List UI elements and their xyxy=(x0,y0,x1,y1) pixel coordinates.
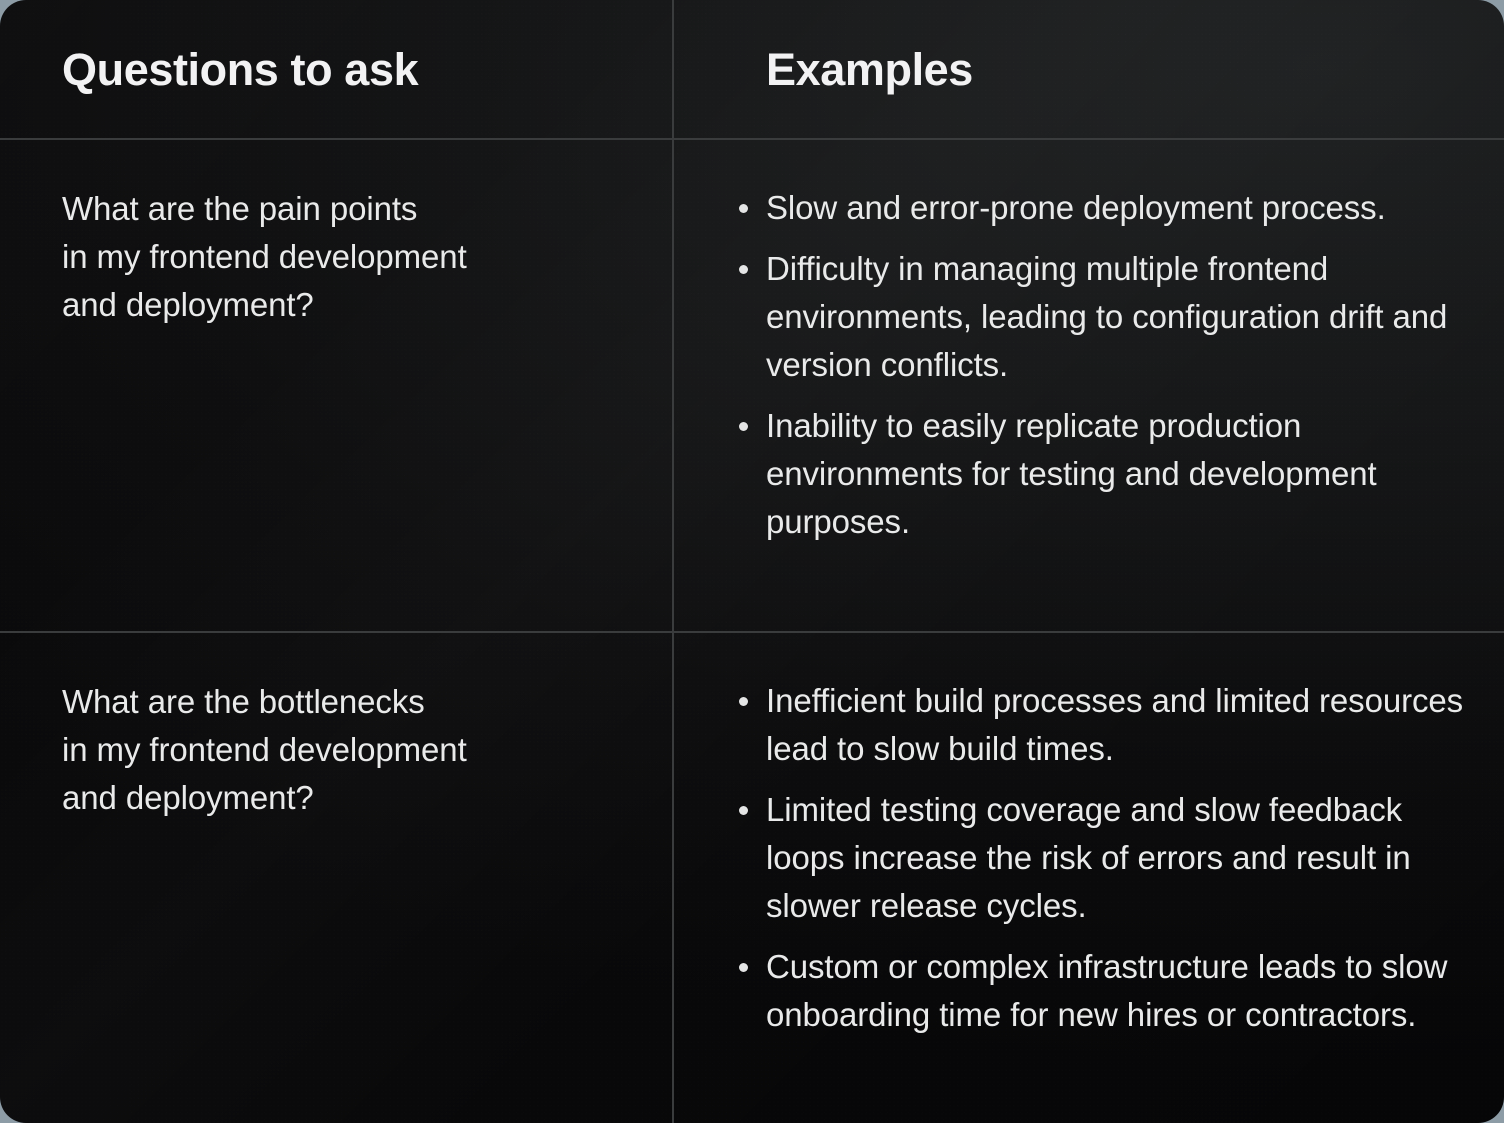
list-item: Inefficient build processes and limited … xyxy=(673,677,1464,773)
bullet-icon xyxy=(739,265,748,274)
question-cell: What are the bottlenecks in my frontend … xyxy=(0,633,673,1123)
list-item: Custom or complex infrastructure leads t… xyxy=(673,943,1464,1039)
column-header-examples: Examples xyxy=(673,47,973,92)
list-item: Slow and error-prone deployment process. xyxy=(673,184,1464,232)
row-divider xyxy=(0,631,1504,633)
list-item-text: Difficulty in managing multiple frontend… xyxy=(766,250,1447,383)
examples-list: Slow and error-prone deployment process.… xyxy=(673,140,1504,546)
column-divider-row-1 xyxy=(672,140,674,631)
bullet-icon xyxy=(739,204,748,213)
list-item-text: Custom or complex infrastructure leads t… xyxy=(766,948,1447,1033)
table-row: What are the bottlenecks in my frontend … xyxy=(0,633,1504,1123)
list-item-text: Inefficient build processes and limited … xyxy=(766,682,1463,767)
header-cell-questions: Questions to ask xyxy=(0,0,673,138)
questions-examples-table: Questions to ask Examples What are the p… xyxy=(0,0,1504,1123)
list-item-text: Slow and error-prone deployment process. xyxy=(766,189,1386,226)
bullet-icon xyxy=(739,697,748,706)
question-text: What are the bottlenecks in my frontend … xyxy=(0,633,673,822)
bullet-icon xyxy=(739,963,748,972)
list-item: Inability to easily replicate production… xyxy=(673,402,1464,546)
list-item-text: Inability to easily replicate production… xyxy=(766,407,1377,540)
examples-cell: Inefficient build processes and limited … xyxy=(673,633,1504,1123)
column-header-questions: Questions to ask xyxy=(0,47,418,92)
list-item-text: Limited testing coverage and slow feedba… xyxy=(766,791,1411,924)
bullet-icon xyxy=(739,806,748,815)
header-cell-examples: Examples xyxy=(673,0,1504,138)
column-divider-header xyxy=(672,0,674,138)
question-text: What are the pain points in my frontend … xyxy=(0,140,673,329)
header-row-divider xyxy=(0,138,1504,140)
bullet-icon xyxy=(739,422,748,431)
examples-cell: Slow and error-prone deployment process.… xyxy=(673,140,1504,631)
table-header-row: Questions to ask Examples xyxy=(0,0,1504,138)
list-item: Limited testing coverage and slow feedba… xyxy=(673,786,1464,930)
table-row: What are the pain points in my frontend … xyxy=(0,140,1504,631)
question-cell: What are the pain points in my frontend … xyxy=(0,140,673,631)
examples-list: Inefficient build processes and limited … xyxy=(673,633,1504,1039)
comparison-table-card: Questions to ask Examples What are the p… xyxy=(0,0,1504,1123)
list-item: Difficulty in managing multiple frontend… xyxy=(673,245,1464,389)
column-divider-row-2 xyxy=(672,633,674,1123)
